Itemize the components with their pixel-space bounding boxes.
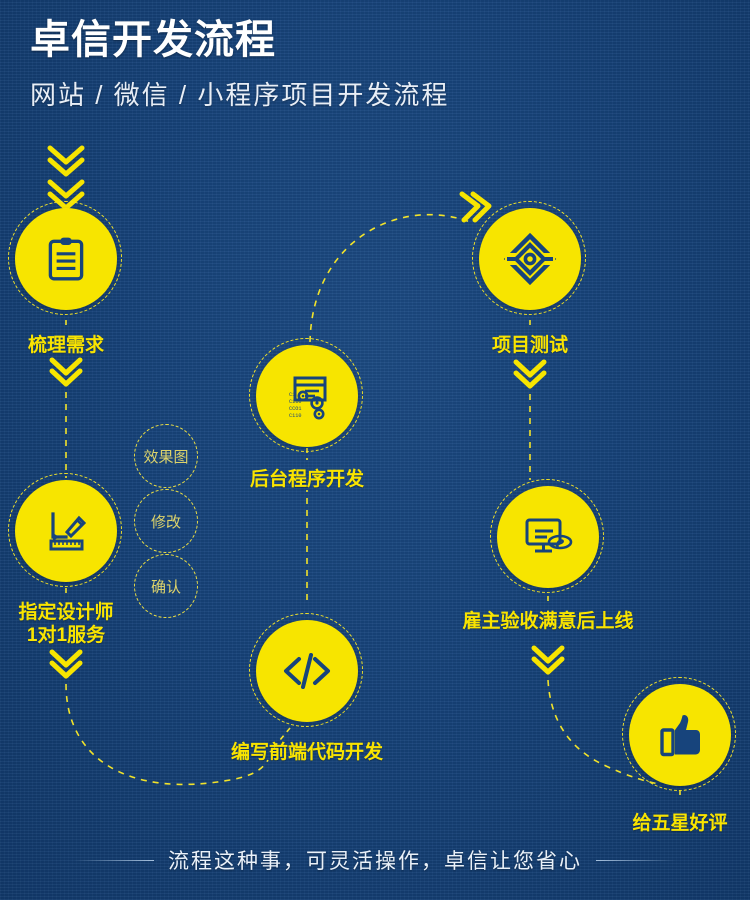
node-review[interactable] (629, 684, 731, 786)
footer-text: 流程这种事，可灵活操作，卓信让您省心 (168, 845, 582, 875)
node-disc (15, 480, 117, 582)
label-designer: 指定设计师 1对1服务 (18, 601, 113, 647)
infographic-canvas: 卓信开发流程 网站 / 微信 / 小程序项目开发流程 (0, 0, 750, 900)
connector-backend-testing (310, 215, 470, 342)
node-disc (479, 208, 581, 310)
footer: 流程这种事，可灵活操作，卓信让您省心 (0, 845, 750, 875)
node-disc (15, 208, 117, 310)
svg-text:e: e (556, 532, 565, 554)
svg-text:C110: C110 (289, 413, 301, 419)
code-brackets-icon (278, 642, 336, 700)
label-acceptance: 雇主验收满意后上线 (462, 610, 633, 633)
node-testing[interactable] (479, 208, 581, 310)
server-gears-icon: C1 C110 CCO1 C110 (281, 370, 333, 422)
diamond-target-icon (502, 231, 558, 287)
footer-rule-left (74, 860, 154, 861)
monitor-browser-icon: e (520, 509, 576, 565)
label-frontend: 编写前端代码开发 (231, 741, 383, 764)
node-disc: e (497, 486, 599, 588)
header: 卓信开发流程 网站 / 微信 / 小程序项目开发流程 (30, 18, 449, 112)
label-review: 给五星好评 (632, 812, 727, 835)
node-backend[interactable]: C1 C110 CCO1 C110 (256, 345, 358, 447)
node-disc (256, 620, 358, 722)
ruler-pencil-icon (40, 505, 92, 557)
node-acceptance[interactable]: e (497, 486, 599, 588)
footer-rule-right (596, 860, 676, 861)
node-frontend[interactable] (256, 620, 358, 722)
chevron-down-icon (516, 362, 544, 386)
node-disc (629, 684, 731, 786)
thumbs-up-icon (653, 708, 707, 762)
connector-designer-frontend (66, 684, 268, 784)
page-subtitle: 网站 / 微信 / 小程序项目开发流程 (30, 75, 449, 112)
chevron-down-icon (50, 148, 82, 208)
bubble-mockup[interactable]: 效果图 (134, 424, 198, 488)
label-testing: 项目测试 (492, 334, 568, 357)
chevron-down-icon (52, 652, 80, 676)
page-title: 卓信开发流程 (30, 18, 449, 63)
clipboard-icon (41, 234, 91, 284)
bubble-confirm[interactable]: 确认 (134, 554, 198, 618)
svg-text:CCO1: CCO1 (289, 406, 301, 412)
bubble-revise[interactable]: 修改 (134, 489, 198, 553)
chevron-down-icon (52, 360, 80, 384)
label-backend: 后台程序开发 (250, 468, 364, 491)
node-disc: C1 C110 CCO1 C110 (256, 345, 358, 447)
svg-text:C1: C1 (289, 392, 295, 398)
chevron-down-icon (534, 648, 562, 672)
node-requirements[interactable] (15, 208, 117, 310)
node-designer[interactable] (15, 480, 117, 582)
label-requirements: 梳理需求 (28, 334, 104, 357)
